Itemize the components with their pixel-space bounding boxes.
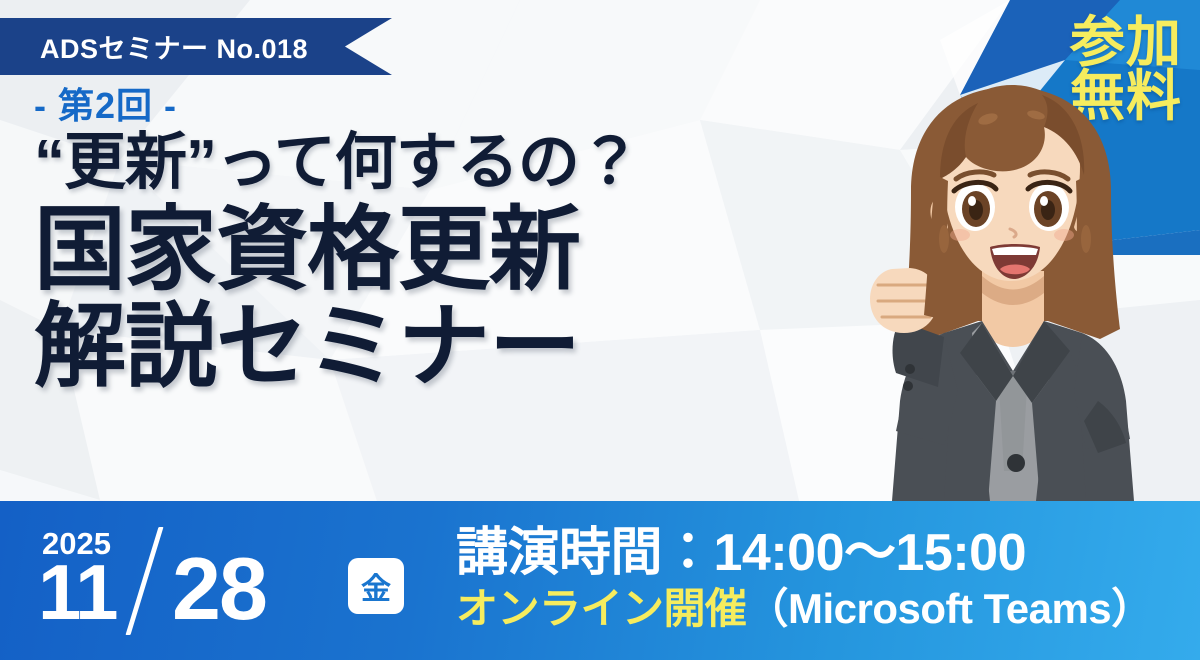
question-subheading: “更新”って何するの？ (34, 130, 640, 197)
day-of-week-badge: 金 (348, 558, 404, 614)
businesswoman-illustration (848, 71, 1178, 501)
edition-label: - 第2回 - (34, 88, 640, 124)
event-date-block: 2025 11 28 金 (0, 501, 430, 660)
headline-group: - 第2回 - “更新”って何するの？ 国家資格更新 解説セミナー (34, 88, 640, 399)
venue-tool-label: （Microsoft Teams） (747, 585, 1153, 632)
main-title-line-1: 国家資格更新 (34, 199, 640, 302)
event-time-label: 講演時間：14:00〜15:00 (456, 524, 1200, 582)
seminar-banner: 参加 無料 ADSセミナー No.018 (0, 0, 1200, 660)
event-month: 11 (38, 553, 116, 631)
event-venue-line: オンライン開催（Microsoft Teams） (456, 584, 1200, 634)
seminar-number-ribbon: ADSセミナー No.018 (0, 18, 392, 75)
event-time-venue-block: 講演時間：14:00〜15:00 オンライン開催（Microsoft Teams… (430, 524, 1200, 638)
date-separator-slash (125, 527, 163, 635)
event-info-bar: 2025 11 28 金 講演時間：14:00〜15:00 オンライン開催（Mi… (0, 501, 1200, 660)
venue-online-label: オンライン開催 (456, 585, 747, 632)
event-day: 28 (172, 545, 266, 633)
main-title-line-2: 解説セミナー (34, 296, 640, 399)
seminar-number-label: ADSセミナー No.018 (40, 27, 308, 66)
